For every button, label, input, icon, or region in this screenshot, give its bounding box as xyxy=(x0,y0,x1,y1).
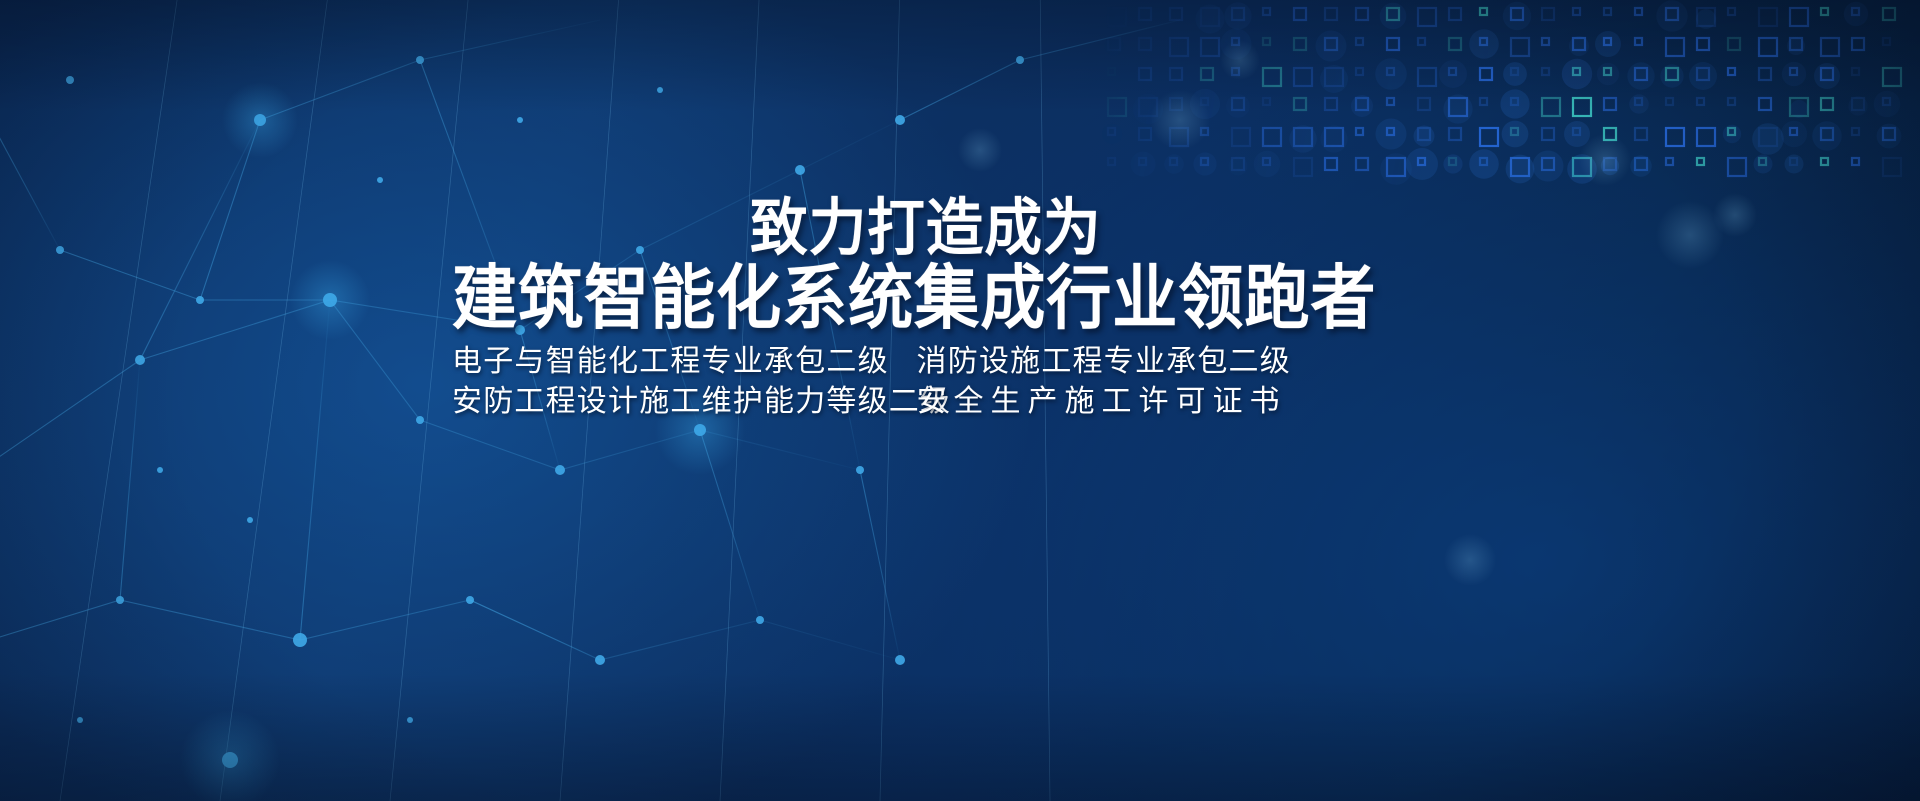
headline-line-2: 建筑智能化系统集成行业领跑者 xyxy=(452,262,1376,334)
headline-line-1: 致力打造成为 xyxy=(750,196,1102,260)
certification-row-2: 安防工程设计施工维护能力等级二级 安全生产施工许可证书 xyxy=(452,385,1287,419)
certification-security-engineering: 安防工程设计施工维护能力等级二级 xyxy=(452,385,907,419)
certification-row-1: 电子与智能化工程专业承包二级 消防设施工程专业承包二级 xyxy=(452,345,1291,379)
certification-fire-protection: 消防设施工程专业承包二级 xyxy=(917,345,1291,379)
certification-electronics-intelligent: 电子与智能化工程专业承包二级 xyxy=(452,345,907,379)
certification-safety-license: 安全生产施工许可证书 xyxy=(917,385,1287,419)
hero-copy: 致力打造成为 建筑智能化系统集成行业领跑者 电子与智能化工程专业承包二级 消防设… xyxy=(0,0,1920,801)
hero-banner: 致力打造成为 建筑智能化系统集成行业领跑者 电子与智能化工程专业承包二级 消防设… xyxy=(0,0,1920,801)
